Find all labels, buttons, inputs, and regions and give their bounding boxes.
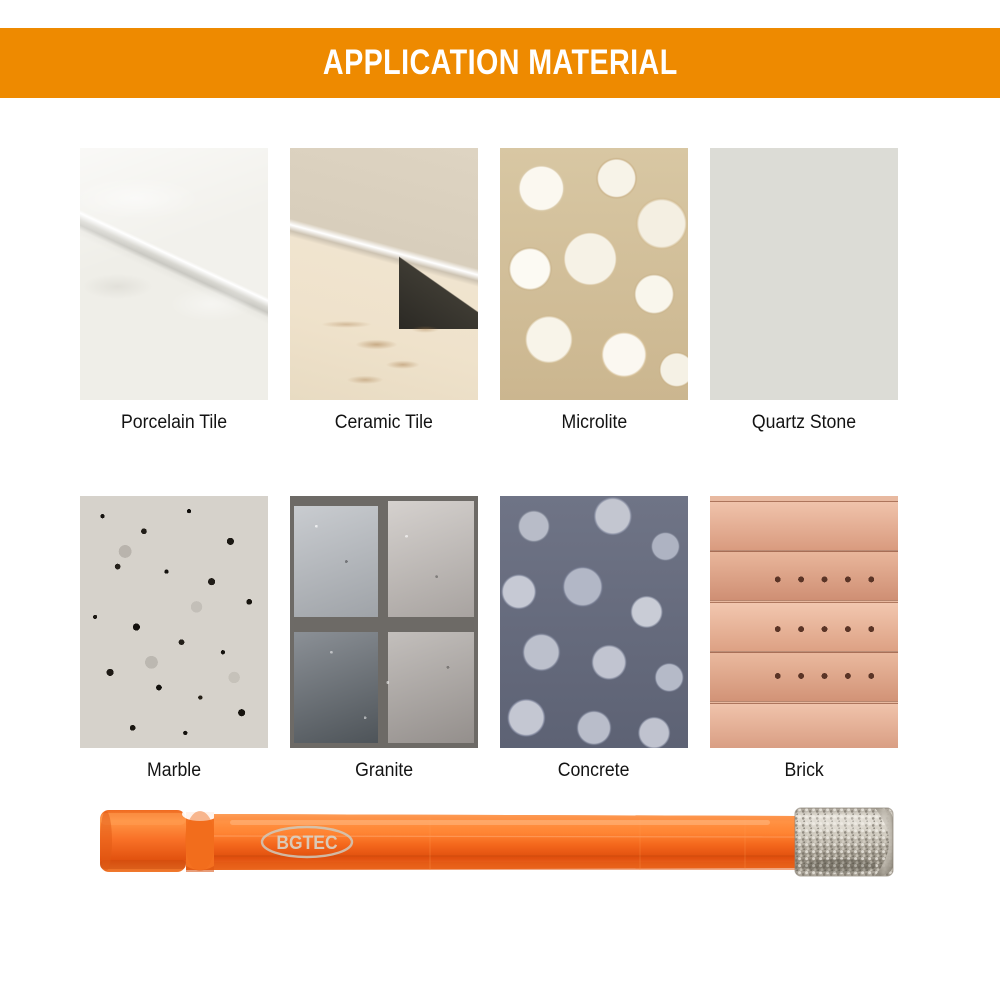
concrete-photo — [500, 496, 688, 748]
material-row-2: Marble Granite Concrete — [80, 496, 920, 782]
porcelain-tile-photo — [80, 148, 268, 400]
material-label: Granite — [355, 760, 413, 782]
material-label: Porcelain Tile — [121, 412, 227, 434]
retention-groove — [182, 807, 218, 872]
drill-bit-illustration: BGTEC — [0, 780, 1000, 920]
material-card-porcelain-tile: Porcelain Tile — [80, 148, 268, 434]
material-label: Microlite — [561, 412, 627, 434]
material-label: Concrete — [558, 760, 630, 782]
brand-mark-text: BGTEC — [276, 831, 337, 853]
brick-photo — [710, 496, 898, 748]
material-label: Ceramic Tile — [335, 412, 433, 434]
application-material-banner: APPLICATION MATERIAL — [0, 28, 1000, 98]
banner-title: APPLICATION MATERIAL — [323, 43, 678, 83]
material-grid: Porcelain Tile Ceramic Tile Microlite Qu… — [80, 148, 920, 782]
quartz-stone-photo — [710, 148, 898, 400]
material-label: Quartz Stone — [752, 412, 856, 434]
material-card-granite: Granite — [290, 496, 478, 782]
ceramic-tile-photo — [290, 148, 478, 400]
material-card-brick: Brick — [710, 496, 898, 782]
microlite-photo — [500, 148, 688, 400]
material-label: Brick — [784, 760, 823, 782]
material-row-1: Porcelain Tile Ceramic Tile Microlite Qu… — [80, 148, 920, 434]
diamond-grit-crown — [795, 808, 893, 876]
material-card-marble: Marble — [80, 496, 268, 782]
granite-photo — [290, 496, 478, 748]
material-card-quartz-stone: Quartz Stone — [710, 148, 898, 434]
material-card-ceramic-tile: Ceramic Tile — [290, 148, 478, 434]
hex-shank — [100, 810, 186, 872]
product-image-diamond-core-drill-bit: BGTEC — [0, 780, 1000, 920]
material-card-concrete: Concrete — [500, 496, 688, 782]
material-card-microlite: Microlite — [500, 148, 688, 434]
material-label: Marble — [147, 760, 201, 782]
marble-photo — [80, 496, 268, 748]
